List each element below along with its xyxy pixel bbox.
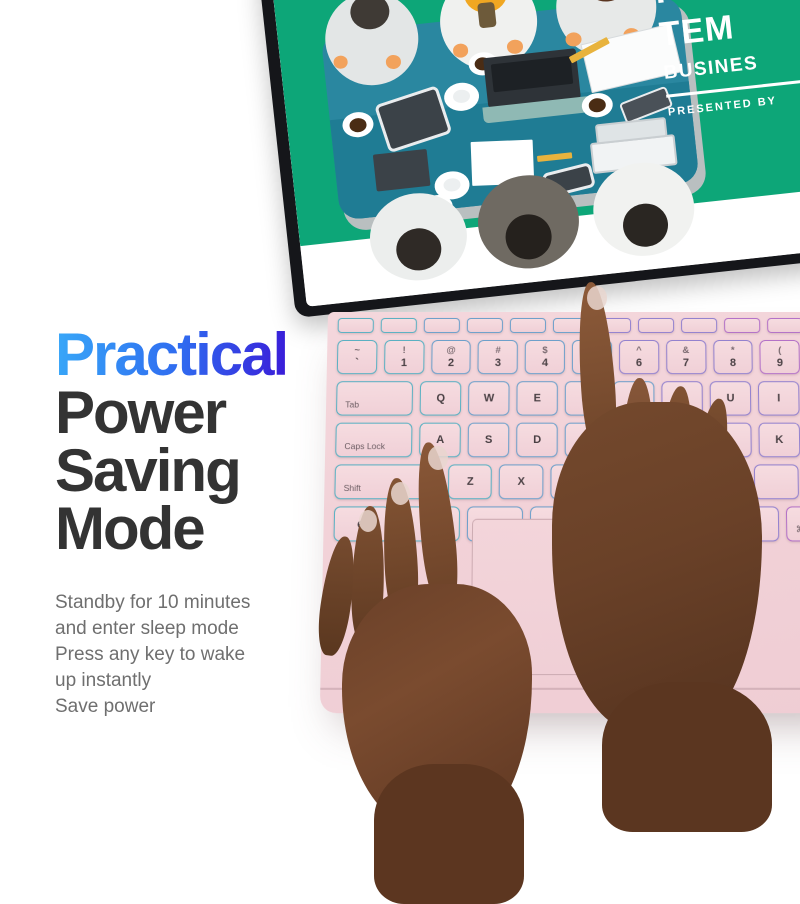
key-q[interactable]: Q xyxy=(420,381,462,415)
presentation-slide: POW TEM BUSINES PRESENTED BY xyxy=(270,0,800,307)
key-esc[interactable] xyxy=(338,318,374,333)
key-tab[interactable]: Tab xyxy=(336,381,413,415)
notebook-object xyxy=(373,149,431,192)
slide-text-block: POW TEM BUSINES PRESENTED BY xyxy=(653,0,800,119)
key-1[interactable]: ! 1 xyxy=(384,340,424,374)
tablet-keyboard-device: POW TEM BUSINES PRESENTED BY xyxy=(268,0,800,822)
poster-canvas: Practical Power Saving Mode Standby for … xyxy=(0,0,800,800)
laptop-dark xyxy=(483,48,581,108)
person-bottom-2 xyxy=(473,170,583,274)
key-f1[interactable] xyxy=(381,318,417,333)
tablet-screen-assembly: POW TEM BUSINES PRESENTED BY xyxy=(257,0,800,318)
right-wrist xyxy=(602,682,772,832)
key-2[interactable]: @ 2 xyxy=(431,340,471,374)
person-top-1 xyxy=(320,0,423,90)
meeting-illustration xyxy=(303,0,722,290)
key-backtick[interactable]: ~ ` xyxy=(337,340,378,374)
right-hand xyxy=(492,282,792,802)
person-bottom-3 xyxy=(589,158,699,262)
key-f2[interactable] xyxy=(424,318,460,333)
tablet-display[interactable]: POW TEM BUSINES PRESENTED BY xyxy=(270,0,800,307)
person-bottom-1 xyxy=(366,189,472,286)
